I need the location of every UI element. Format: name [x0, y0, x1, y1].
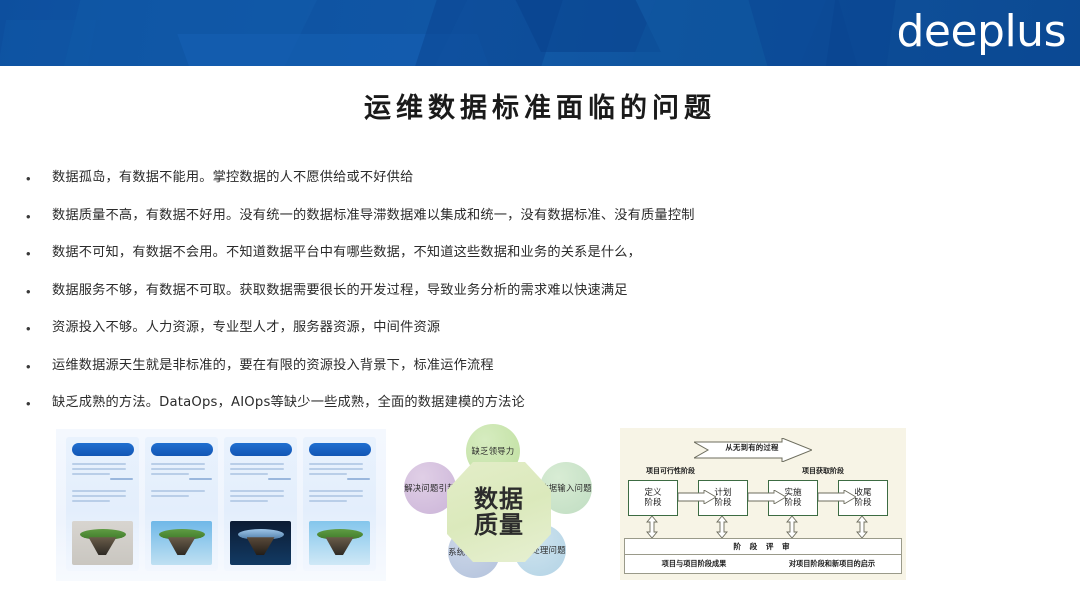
- bullet-text: 数据孤岛，有数据不能用。掌控数据的人不愿供给或不好供给: [52, 168, 413, 188]
- card-thumbnail: [230, 521, 291, 565]
- article-card: [145, 437, 218, 571]
- phase-box-line1: 计划: [714, 488, 731, 498]
- bullet-text: 数据服务不够，有数据不可取。获取数据需要很长的开发过程，导致业务分析的需求难以快…: [52, 281, 628, 301]
- review-link-arrow-icon: [786, 516, 798, 538]
- floating-island-illustration: [238, 529, 284, 555]
- bullet-marker-icon: •: [26, 356, 52, 377]
- dq-center-label: 数据质量: [447, 462, 551, 562]
- bullet-text: 数据不可知，有数据不会用。不知道数据平台中有哪些数据，不知道这些数据和业务的关系…: [52, 243, 641, 263]
- review-link-arrow-icon: [856, 516, 868, 538]
- bullet-list: • 数据孤岛，有数据不能用。掌控数据的人不愿供给或不好供给 • 数据质量不高，有…: [26, 168, 1056, 431]
- list-item: • 数据质量不高，有数据不好用。没有统一的数据标准导滞数据难以集成和统一，没有数…: [26, 206, 1056, 244]
- dq-center-text: 数据质量: [474, 486, 524, 538]
- bullet-marker-icon: •: [26, 206, 52, 227]
- bullet-text: 资源投入不够。人力资源，专业型人才，服务器资源，中间件资源: [52, 318, 440, 338]
- project-phase-diagram: 从无到有的过程 项目可行性阶段 项目获取阶段 定义阶段 计划阶段 实施阶段 收尾…: [620, 428, 906, 580]
- card-body-lines: [151, 463, 212, 497]
- phase-transition-arrow-icon: [818, 490, 856, 504]
- outcome-right-label: 对项目阶段和新项目的启示: [763, 559, 901, 569]
- card-title-pill: [230, 443, 292, 456]
- card-title-pill: [72, 443, 134, 456]
- outcome-left-label: 项目与项目阶段成果: [625, 559, 763, 569]
- card-body-lines: [309, 463, 370, 502]
- card-thumbnail: [151, 521, 212, 565]
- phase-label-feasibility: 项目可行性阶段: [646, 466, 695, 476]
- data-quality-diagram: 缺乏领导力 数据输入问题 数据处理问题 系统设计问题 解决问题引起 数据质量: [404, 424, 600, 594]
- phase-box-line2: 阶段: [714, 498, 731, 508]
- phase-box-definition: 定义阶段: [628, 480, 678, 516]
- phase-box-line1: 收尾: [854, 488, 871, 498]
- floating-island-illustration: [317, 529, 363, 555]
- review-link-arrow-icon: [646, 516, 658, 538]
- dq-center-line1: 数据: [474, 485, 524, 513]
- phase-box-line2: 阶段: [854, 498, 871, 508]
- bullet-text: 数据质量不高，有数据不好用。没有统一的数据标准导滞数据难以集成和统一，没有数据标…: [52, 206, 695, 226]
- bullet-marker-icon: •: [26, 318, 52, 339]
- card-body-lines: [72, 463, 133, 502]
- card-thumbnail: [72, 521, 133, 565]
- figures-row: 缺乏领导力 数据输入问题 数据处理问题 系统设计问题 解决问题引起 数据质量 从…: [0, 424, 1080, 596]
- phase-transition-arrow-icon: [748, 490, 786, 504]
- bullet-text: 缺乏成熟的方法。DataOps，AIOps等缺少一些成熟，全面的数据建模的方法论: [52, 393, 525, 413]
- card-thumbnail: [309, 521, 370, 565]
- floating-island-illustration: [80, 529, 126, 555]
- page-title: 运维数据标准面临的问题: [0, 86, 1080, 125]
- article-cards-screenshot: [56, 429, 386, 581]
- deeplus-logo: deeplus: [896, 7, 1066, 57]
- review-bar-label: 阶 段 评 审: [624, 538, 902, 555]
- bullet-marker-icon: •: [26, 393, 52, 414]
- outcome-bar: 项目与项目阶段成果 对项目阶段和新项目的启示: [624, 555, 902, 574]
- process-arrow-label: 从无到有的过程: [696, 442, 808, 453]
- list-item: • 数据孤岛，有数据不能用。掌控数据的人不愿供给或不好供给: [26, 168, 1056, 206]
- dq-center-line2: 质量: [474, 511, 524, 539]
- phase-box-line1: 实施: [784, 488, 801, 498]
- phase-box-line2: 阶段: [644, 498, 661, 508]
- bullet-marker-icon: •: [26, 168, 52, 189]
- article-card: [66, 437, 139, 571]
- card-title-pill: [151, 443, 213, 456]
- card-body-lines: [230, 463, 291, 502]
- review-link-arrow-icon: [716, 516, 728, 538]
- phase-box-line1: 定义: [644, 488, 661, 498]
- article-card: [224, 437, 297, 571]
- list-item: • 数据服务不够，有数据不可取。获取数据需要很长的开发过程，导致业务分析的需求难…: [26, 281, 1056, 319]
- bullet-marker-icon: •: [26, 243, 52, 264]
- bullet-marker-icon: •: [26, 281, 52, 302]
- list-item: • 运维数据源天生就是非标准的，要在有限的资源投入背景下，标准运作流程: [26, 356, 1056, 394]
- list-item: • 数据不可知，有数据不会用。不知道数据平台中有哪些数据，不知道这些数据和业务的…: [26, 243, 1056, 281]
- deeplus-logo-text: deeplus: [896, 7, 1066, 57]
- article-card: [303, 437, 376, 571]
- phase-label-acquisition: 项目获取阶段: [802, 466, 844, 476]
- list-item: • 资源投入不够。人力资源，专业型人才，服务器资源，中间件资源: [26, 318, 1056, 356]
- bullet-text: 运维数据源天生就是非标准的，要在有限的资源投入背景下，标准运作流程: [52, 356, 494, 376]
- slide-header-banner: deeplus: [0, 0, 1080, 66]
- phase-box-line2: 阶段: [784, 498, 801, 508]
- floating-island-illustration: [159, 529, 205, 555]
- card-title-pill: [309, 443, 371, 456]
- phase-transition-arrow-icon: [678, 490, 716, 504]
